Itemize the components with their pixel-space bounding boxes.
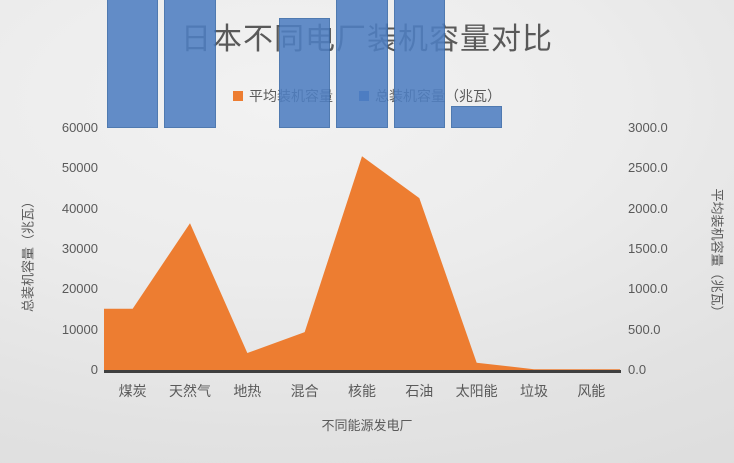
x-axis-tick-label: 风能 [563,381,620,401]
y-axis-tick-label: 10000 [62,323,98,336]
y2-axis-tick-label: 0.0 [628,363,646,376]
bar [279,18,331,128]
chart-container: 日本不同电厂装机容量对比 平均装机容量 总装机容量（兆瓦） 总装机容量（兆瓦） … [0,0,734,463]
y-axis-tick-label: 50000 [62,161,98,174]
bar [451,106,503,128]
x-axis-tick-label: 地热 [219,381,276,401]
x-axis-title: 不同能源发电厂 [0,415,734,434]
x-axis-tick-label: 核能 [333,381,390,401]
y2-axis-tick-label: 2500.0 [628,161,668,174]
bar [336,0,388,128]
y2-axis-tick-label: 500.0 [628,323,661,336]
y2-axis-tick-label: 2000.0 [628,202,668,215]
x-axis-line [104,370,621,373]
bar [107,0,159,128]
y-axis-tick-label: 0 [91,363,98,376]
x-axis-tick-label: 石油 [391,381,448,401]
y2-axis-tick-label: 3000.0 [628,121,668,134]
x-axis-tick-label: 垃圾 [505,381,562,401]
y2-axis-tick-label: 1500.0 [628,242,668,255]
y-axis-tick-label: 30000 [62,242,98,255]
area-shape [104,156,620,370]
bar [164,0,216,128]
y2-axis-tick-label: 1000.0 [628,282,668,295]
y2-axis-ticks: 0.0500.01000.01500.02000.02500.03000.0 [628,0,734,463]
x-axis-tick-label: 天然气 [161,381,218,401]
y-axis-tick-label: 20000 [62,282,98,295]
area-series [104,128,620,370]
x-axis-tick-label: 混合 [276,381,333,401]
plot-area [104,128,620,370]
y-axis-ticks: 0100002000030000400005000060000 [0,0,98,463]
x-axis-tick-label: 太阳能 [448,381,505,401]
legend-swatch-average-capacity [233,91,243,101]
y-axis-tick-label: 60000 [62,121,98,134]
y-axis-tick-label: 40000 [62,202,98,215]
x-axis-tick-label: 煤炭 [104,381,161,401]
bar [394,0,446,128]
x-axis-categories: 煤炭天然气地热混合核能石油太阳能垃圾风能 [104,381,620,405]
